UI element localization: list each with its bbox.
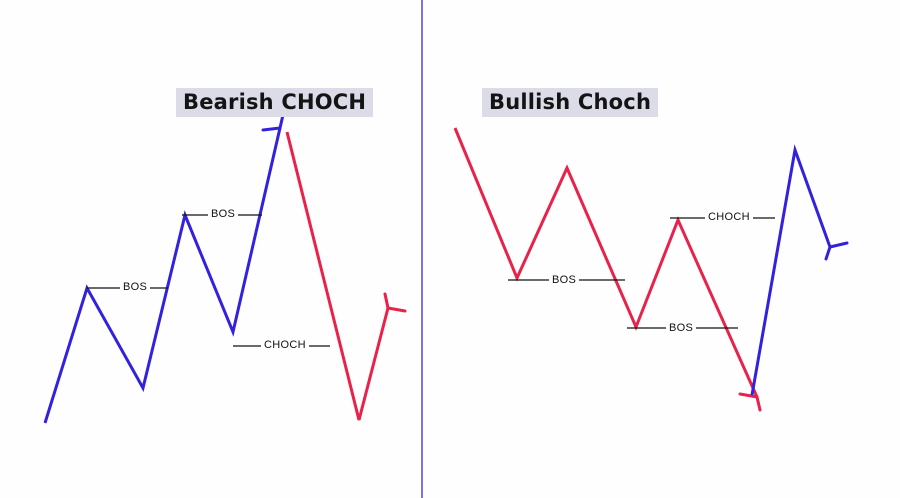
bullish-panel-bos-upper-label: BOS [549,274,579,286]
bullish-panel-bearish-leg [455,128,757,397]
bullish-panel-bullish-leg [752,150,830,395]
arrow-barb-2 [826,247,830,259]
bearish-panel-bullish-leg [45,128,280,423]
price-action-diagram [0,0,900,498]
arrow-barb-2 [385,294,388,308]
bearish-panel-choch-label: CHOCH [261,339,309,351]
arrow-head-up-right [385,294,405,311]
bullish-panel-bos-lower-label: BOS [666,322,696,334]
arrow-barb-1 [388,308,405,311]
panel-title-bullish: Bullish Choch [482,88,658,117]
arrow-barb-2 [757,397,760,410]
bearish-panel-bearish-leg [287,132,388,420]
arrow-head-down-left [740,394,760,410]
bearish-panel-bos-upper-label: BOS [208,208,238,220]
price-lines [45,115,847,423]
bullish-panel-choch-label: CHOCH [705,211,753,223]
arrow-barb-1 [263,128,280,130]
arrow-barb-1 [830,243,847,247]
bearish-panel-bos-lower-label: BOS [120,281,150,293]
arrow-head-up-left [263,115,283,130]
chart-canvas: Bearish CHOCH Bullish Choch BOSBOSCHOCHB… [0,0,900,498]
panel-title-bearish: Bearish CHOCH [176,88,373,117]
